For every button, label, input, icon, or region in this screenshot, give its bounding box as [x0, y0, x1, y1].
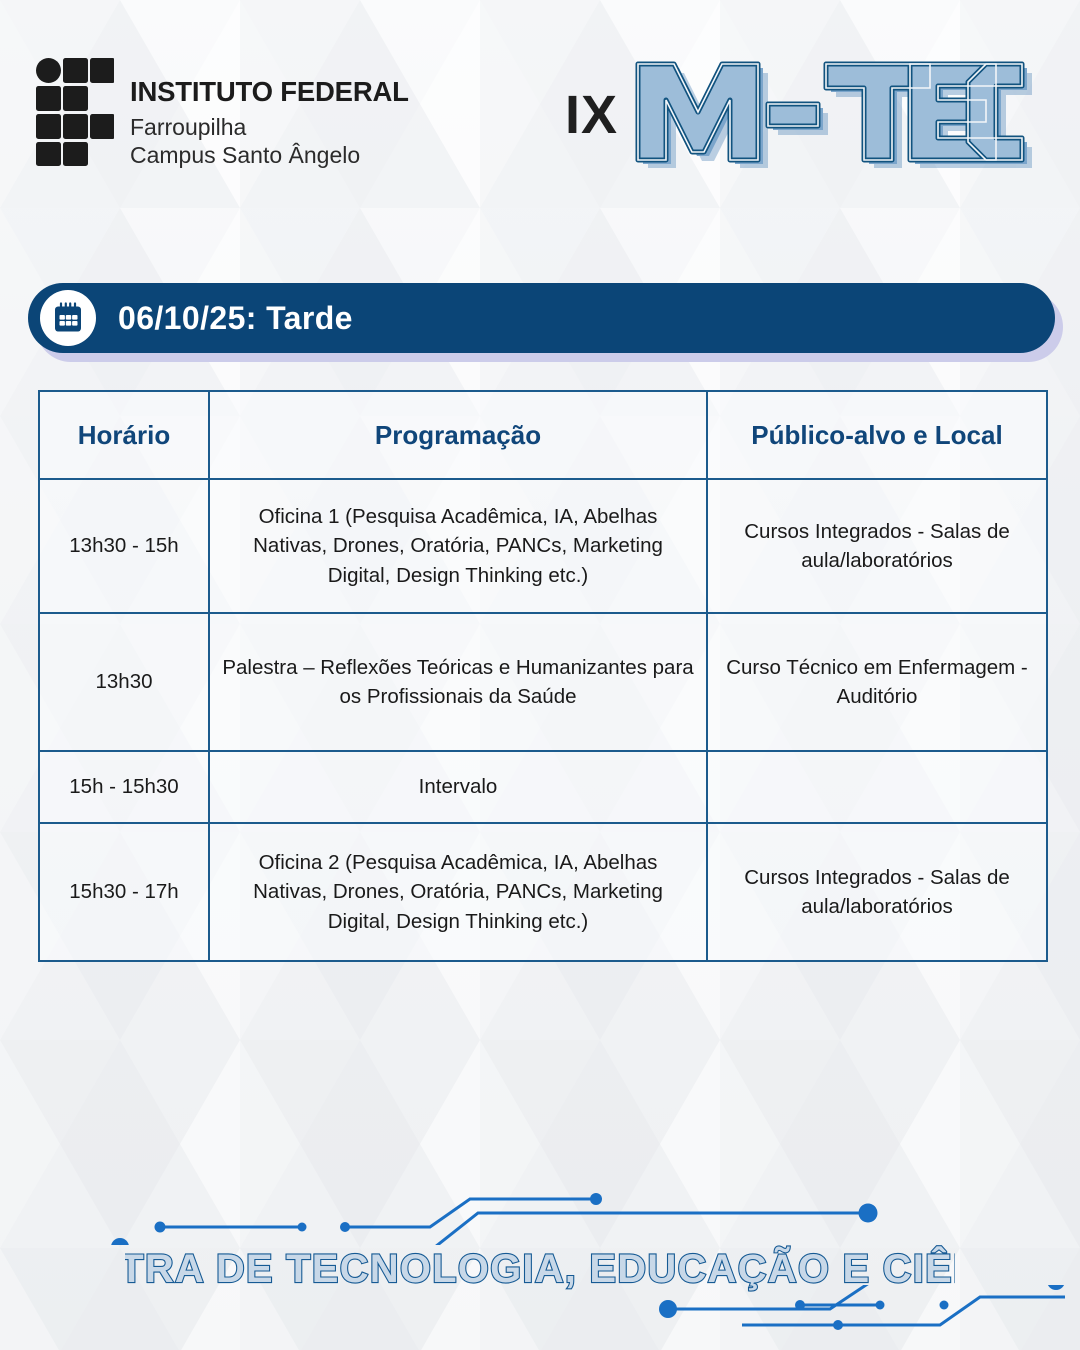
cell-horario: 15h30 - 17h — [39, 823, 209, 961]
cell-horario: 15h - 15h30 — [39, 751, 209, 823]
cell-programacao: Oficina 2 (Pesquisa Acadêmica, IA, Abelh… — [209, 823, 707, 961]
table-row: 13h30 Palestra – Reflexões Teóricas e Hu… — [39, 613, 1047, 751]
institution-text-block: INSTITUTO FEDERAL Farroupilha Campus San… — [130, 58, 409, 169]
cell-programacao: Palestra – Reflexões Teóricas e Humaniza… — [209, 613, 707, 751]
table-row: 15h30 - 17h Oficina 2 (Pesquisa Acadêmic… — [39, 823, 1047, 961]
schedule-table: Horário Programação Público-alvo e Local… — [38, 390, 1048, 962]
circuit-lines-top-icon — [0, 1185, 1080, 1245]
cell-publico: Curso Técnico em Enfermagem - Auditório — [707, 613, 1047, 751]
cell-publico: Cursos Integrados - Salas de aula/labora… — [707, 479, 1047, 613]
table-row: 15h - 15h30 Intervalo — [39, 751, 1047, 823]
if-grid-logo-icon — [36, 58, 114, 166]
page-footer: MOSTRA DE TECNOLOGIA, EDUCAÇÃO E CIÊNCIA — [0, 1185, 1080, 1350]
table-header-row: Horário Programação Público-alvo e Local — [39, 391, 1047, 479]
column-header-programacao: Programação — [209, 391, 707, 479]
column-header-publico-alvo: Público-alvo e Local — [707, 391, 1047, 479]
cell-horario: 13h30 — [39, 613, 209, 751]
event-logo: IX — [565, 52, 1034, 172]
page-header: INSTITUTO FEDERAL Farroupilha Campus San… — [0, 0, 1080, 200]
cell-publico — [707, 751, 1047, 823]
cell-publico: Cursos Integrados - Salas de aula/labora… — [707, 823, 1047, 961]
institution-title: INSTITUTO FEDERAL — [130, 78, 409, 106]
mtec-wordmark-icon — [634, 56, 1034, 168]
circuit-lines-bottom-icon — [0, 1285, 1080, 1350]
date-banner-container: 06/10/25: Tarde — [28, 283, 1055, 355]
table-header: Horário Programação Público-alvo e Local — [39, 391, 1047, 479]
institution-subtitle-farroupilha: Farroupilha — [130, 113, 409, 141]
date-banner: 06/10/25: Tarde — [28, 283, 1055, 353]
calendar-icon — [50, 300, 86, 336]
column-header-horario: Horário — [39, 391, 209, 479]
cell-programacao: Oficina 1 (Pesquisa Acadêmica, IA, Abelh… — [209, 479, 707, 613]
calendar-icon-badge — [40, 290, 96, 346]
date-banner-label: 06/10/25: Tarde — [118, 300, 353, 337]
institution-subtitle-campus: Campus Santo Ângelo — [130, 141, 409, 169]
institution-logo: INSTITUTO FEDERAL Farroupilha Campus San… — [36, 58, 409, 169]
event-roman-numeral: IX — [565, 84, 618, 146]
cell-programacao: Intervalo — [209, 751, 707, 823]
cell-horario: 13h30 - 15h — [39, 479, 209, 613]
table-row: 13h30 - 15h Oficina 1 (Pesquisa Acadêmic… — [39, 479, 1047, 613]
table-body: 13h30 - 15h Oficina 1 (Pesquisa Acadêmic… — [39, 479, 1047, 961]
